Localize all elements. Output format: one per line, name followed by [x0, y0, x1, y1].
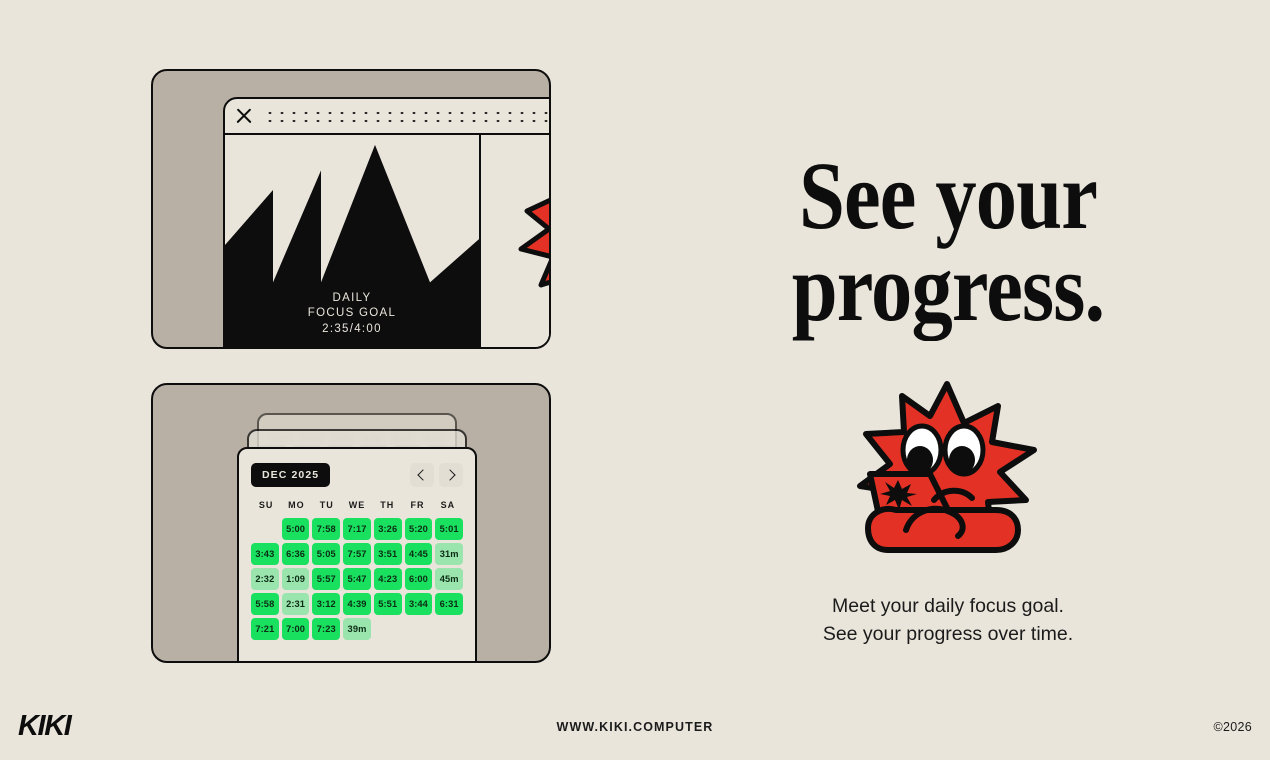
dow-label: TU — [312, 500, 342, 510]
next-month-button[interactable] — [439, 463, 463, 487]
chevron-right-icon — [444, 469, 455, 480]
calendar-day-cell[interactable]: 7:58 — [312, 518, 340, 540]
calendar-day-cell — [251, 518, 279, 540]
calendar-day-cell[interactable]: 5:05 — [312, 543, 340, 565]
calendar-day-cell[interactable]: 1:09 — [282, 568, 310, 590]
calendar-day-cell[interactable]: 7:57 — [343, 543, 371, 565]
titlebar-dot-pattern — [264, 108, 551, 124]
dow-label: WE — [342, 500, 372, 510]
calendar-day-cell[interactable]: 31m — [435, 543, 463, 565]
calendar-day-cell[interactable]: 7:23 — [312, 618, 340, 640]
calendar-card: 0:00 0:00 0:00 0:00 0:00 0:00 0:00 0:00 … — [151, 383, 551, 663]
peeking-mascot-icon — [497, 153, 551, 349]
calendar-day-cell[interactable]: 5:57 — [312, 568, 340, 590]
calendar-day-cell[interactable]: 3:26 — [374, 518, 402, 540]
calendar-day-cell[interactable]: 6:31 — [435, 593, 463, 615]
mascot-at-laptop-icon — [846, 378, 1046, 563]
calendar-day-cell[interactable]: 2:31 — [282, 593, 310, 615]
window-titlebar — [225, 99, 551, 135]
calendar-week-row: 2:321:095:575:474:236:0045m — [251, 568, 463, 590]
calendar-day-cell[interactable]: 7:21 — [251, 618, 279, 640]
calendar-day-cell[interactable]: 3:44 — [405, 593, 433, 615]
calendar-day-cell[interactable]: 3:43 — [251, 543, 279, 565]
calendar-day-cell[interactable]: 5:01 — [435, 518, 463, 540]
calendar-day-cell[interactable]: 5:58 — [251, 593, 279, 615]
headline-line-1: See your — [700, 150, 1195, 242]
calendar-day-cell — [374, 618, 402, 640]
copyright: ©2026 — [1213, 720, 1252, 734]
calendar-week-row: 7:217:007:2339m — [251, 618, 463, 640]
calendar-week-row: 3:436:365:057:573:514:4531m — [251, 543, 463, 565]
calendar-day-cell[interactable]: 4:39 — [343, 593, 371, 615]
calendar-day-cell — [435, 618, 463, 640]
calendar-day-cell[interactable]: 4:23 — [374, 568, 402, 590]
calendar-day-cell[interactable]: 3:12 — [312, 593, 340, 615]
focus-goal-card: DAILY FOCUS GOAL 2:35/4:00 — [151, 69, 551, 349]
window-body: DAILY FOCUS GOAL 2:35/4:00 — [225, 135, 551, 349]
app-window: DAILY FOCUS GOAL 2:35/4:00 — [223, 97, 551, 349]
calendar-nav — [410, 463, 463, 487]
dow-label: SU — [251, 500, 281, 510]
calendar-day-cell[interactable]: 5:20 — [405, 518, 433, 540]
calendar-day-cell[interactable]: 3:51 — [374, 543, 402, 565]
mascot-pane — [481, 135, 551, 349]
footer: KIKI WWW.KIKI.COMPUTER ©2026 — [0, 698, 1270, 760]
subcopy-line-1: Meet your daily focus goal. — [660, 592, 1236, 620]
footer-url[interactable]: WWW.KIKI.COMPUTER — [0, 720, 1270, 734]
calendar-day-cell[interactable]: 45m — [435, 568, 463, 590]
goal-line-2: FOCUS GOAL — [225, 306, 479, 322]
calendar-day-cell[interactable]: 6:36 — [282, 543, 310, 565]
calendar-day-cell[interactable]: 7:17 — [343, 518, 371, 540]
daily-focus-goal-readout: DAILY FOCUS GOAL 2:35/4:00 — [225, 291, 479, 338]
month-label[interactable]: DEC 2025 — [251, 463, 330, 487]
headline-line-2: progress. — [700, 242, 1195, 334]
dow-label: SA — [433, 500, 463, 510]
calendar-day-cell[interactable]: 6:00 — [405, 568, 433, 590]
close-x-icon[interactable] — [235, 108, 252, 125]
subcopy-line-2: See your progress over time. — [660, 620, 1236, 648]
calendar-day-cell[interactable]: 5:51 — [374, 593, 402, 615]
dow-label: TH — [372, 500, 402, 510]
goal-line-3: 2:35/4:00 — [225, 322, 479, 338]
calendar-day-cell[interactable]: 4:45 — [405, 543, 433, 565]
dow-label: MO — [281, 500, 311, 510]
page-title: See your progress. — [700, 150, 1195, 334]
chevron-left-icon — [417, 469, 428, 480]
poster-canvas: DAILY FOCUS GOAL 2:35/4:00 — [0, 0, 1270, 760]
calendar-day-cell[interactable]: 2:32 — [251, 568, 279, 590]
calendar-week-row: 5:007:587:173:265:205:01 — [251, 518, 463, 540]
calendar-day-cell[interactable]: 7:00 — [282, 618, 310, 640]
calendar-day-cell — [405, 618, 433, 640]
focus-chart-pane: DAILY FOCUS GOAL 2:35/4:00 — [225, 135, 481, 349]
subcopy: Meet your daily focus goal. See your pro… — [660, 592, 1236, 648]
calendar-day-cell[interactable]: 5:47 — [343, 568, 371, 590]
calendar-header: DEC 2025 — [251, 463, 463, 487]
goal-line-1: DAILY — [225, 291, 479, 307]
calendar-week-row: 5:582:313:124:395:513:446:31 — [251, 593, 463, 615]
dow-label: FR — [402, 500, 432, 510]
day-of-week-header: SU MO TU WE TH FR SA — [251, 500, 463, 510]
prev-month-button[interactable] — [410, 463, 434, 487]
calendar-panel: DEC 2025 SU MO TU WE TH FR SA — [237, 447, 477, 663]
calendar-day-cell[interactable]: 39m — [343, 618, 371, 640]
calendar-grid: 5:007:587:173:265:205:013:436:365:057:57… — [251, 518, 463, 640]
calendar-day-cell[interactable]: 5:00 — [282, 518, 310, 540]
